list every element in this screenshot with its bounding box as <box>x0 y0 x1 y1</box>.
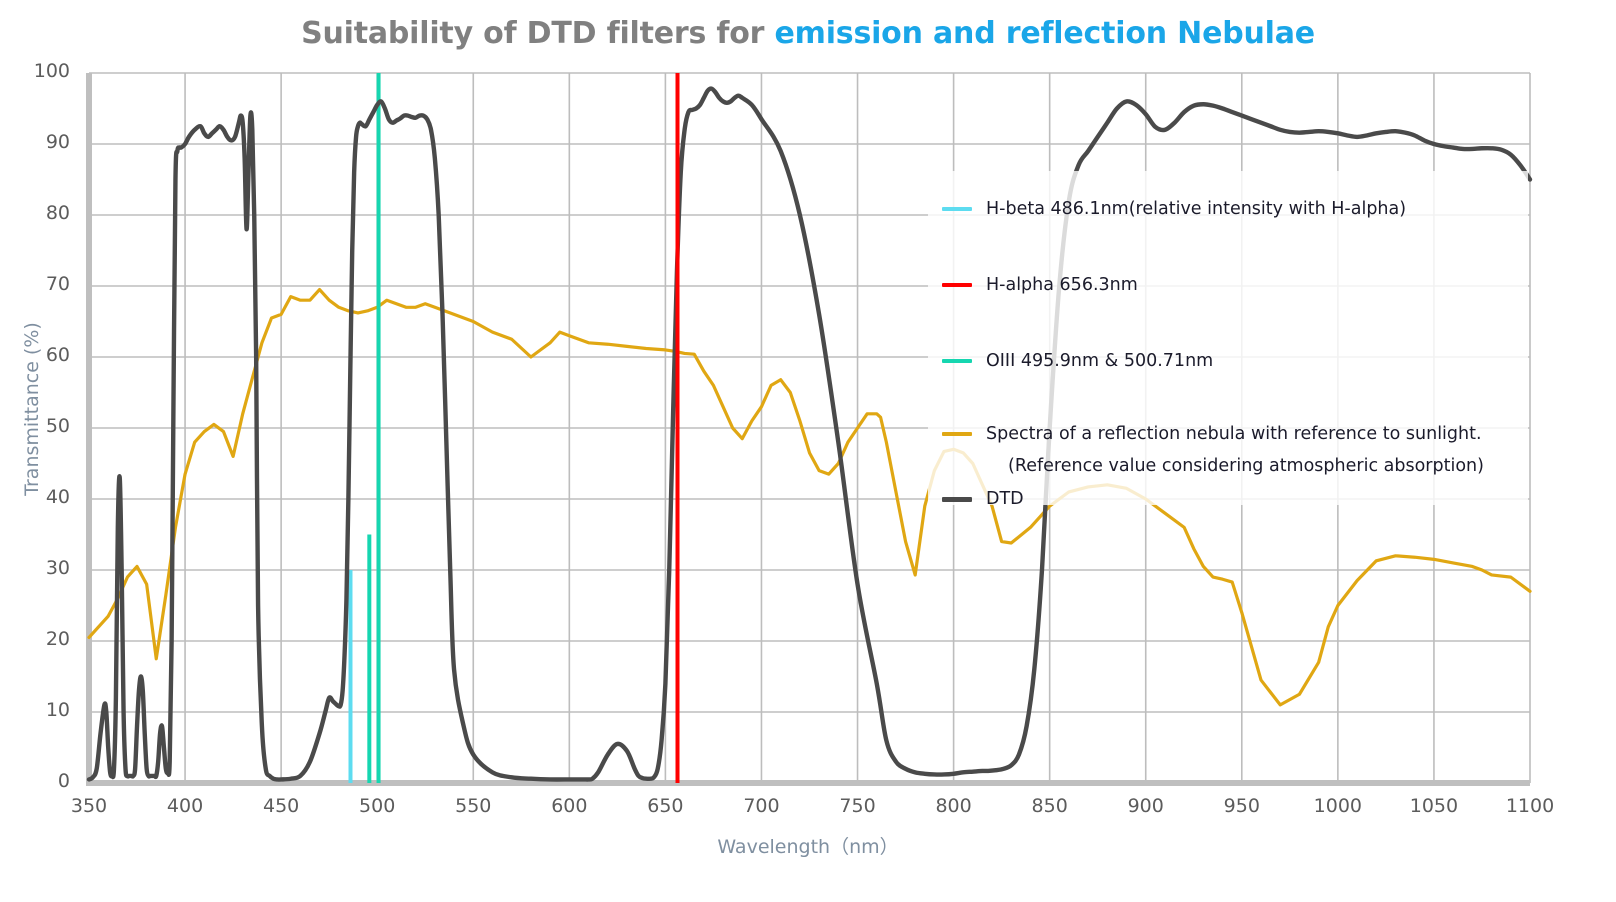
legend-label-dtd: DTD <box>986 489 1024 509</box>
y-tick-label: 70 <box>0 273 70 295</box>
legend-sublabel-reference-value: (Reference value considering atmospheric… <box>1008 456 1484 476</box>
x-tick-label: 1000 <box>1298 795 1378 817</box>
x-tick-label: 600 <box>529 795 609 817</box>
y-tick-label: 60 <box>0 344 70 366</box>
x-tick-label: 1050 <box>1394 795 1474 817</box>
y-tick-label: 80 <box>0 202 70 224</box>
x-tick-label: 450 <box>241 795 321 817</box>
x-tick-label: 1100 <box>1490 795 1570 817</box>
x-tick-label: 900 <box>1106 795 1186 817</box>
legend-item-dtd[interactable]: DTD <box>942 489 1024 509</box>
legend-swatch-h-beta <box>942 207 972 211</box>
y-tick-label: 0 <box>0 770 70 792</box>
y-tick-label: 30 <box>0 557 70 579</box>
legend-label-oiii: OIII 495.9nm & 500.71nm <box>986 351 1213 371</box>
chart-legend: H-beta 486.1nm(relative intensity with H… <box>928 171 1528 505</box>
legend-swatch-dtd <box>942 497 972 502</box>
x-tick-label: 550 <box>433 795 513 817</box>
legend-swatch-oiii <box>942 359 972 363</box>
legend-swatch-reflection-nebula <box>942 432 972 436</box>
y-tick-label: 40 <box>0 486 70 508</box>
chart-page: Suitability of DTD filters for emission … <box>0 0 1616 902</box>
legend-label-h-alpha: H-alpha 656.3nm <box>986 275 1138 295</box>
legend-item-h-beta[interactable]: H-beta 486.1nm(relative intensity with H… <box>942 199 1406 219</box>
x-tick-label: 400 <box>145 795 225 817</box>
y-tick-label: 50 <box>0 415 70 437</box>
x-axis-title: Wavelength（nm） <box>0 832 1616 859</box>
legend-label-h-beta: H-beta 486.1nm(relative intensity with H… <box>986 199 1406 219</box>
x-tick-label: 750 <box>818 795 898 817</box>
legend-item-reflection-nebula[interactable]: Spectra of a reflection nebula with refe… <box>942 424 1482 444</box>
x-tick-label: 500 <box>337 795 417 817</box>
y-tick-label: 20 <box>0 628 70 650</box>
x-tick-label: 800 <box>914 795 994 817</box>
legend-item-oiii[interactable]: OIII 495.9nm & 500.71nm <box>942 351 1213 371</box>
y-tick-label: 100 <box>0 60 70 82</box>
y-tick-label: 90 <box>0 131 70 153</box>
y-tick-label: 10 <box>0 699 70 721</box>
x-tick-label: 700 <box>721 795 801 817</box>
legend-label-reflection-nebula: Spectra of a reflection nebula with refe… <box>986 424 1482 444</box>
legend-swatch-h-alpha <box>942 283 972 287</box>
legend-item-h-alpha[interactable]: H-alpha 656.3nm <box>942 275 1138 295</box>
x-tick-label: 650 <box>625 795 705 817</box>
x-tick-label: 950 <box>1202 795 1282 817</box>
x-tick-label: 350 <box>49 795 129 817</box>
x-tick-label: 850 <box>1010 795 1090 817</box>
